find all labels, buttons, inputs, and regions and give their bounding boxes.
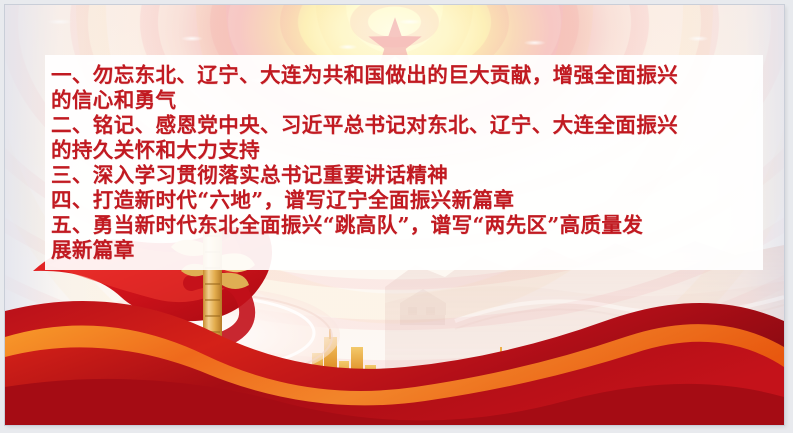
slide-frame: 一、勿忘东北、辽宁、大连为共和国做出的巨大贡献，增强全面振兴 的信心和勇气 二、… — [5, 5, 784, 425]
text-line: 三、深入学习贯彻落实总书记重要讲话精神 — [51, 163, 757, 188]
text-line: 四、打造新时代“六地”，谱写辽宁全面振兴新篇章 — [51, 188, 757, 213]
text-line: 的持久关怀和大力支持 — [51, 138, 757, 163]
text-line: 的信心和勇气 — [51, 88, 757, 113]
text-line-list: 一、勿忘东北、辽宁、大连为共和国做出的巨大贡献，增强全面振兴 的信心和勇气 二、… — [45, 55, 763, 263]
text-line: 展新篇章 — [51, 238, 757, 263]
slide-root: 一、勿忘东北、辽宁、大连为共和国做出的巨大贡献，增强全面振兴 的信心和勇气 二、… — [0, 0, 793, 433]
text-line: 五、勇当新时代东北全面振兴“跳高队”，谱写“两先区”高质量发 — [51, 213, 757, 238]
text-line: 一、勿忘东北、辽宁、大连为共和国做出的巨大贡献，增强全面振兴 — [51, 63, 757, 88]
text-line: 二、铭记、感恩党中央、习近平总书记对东北、辽宁、大连全面振兴 — [51, 113, 757, 138]
content-text-panel: 一、勿忘东北、辽宁、大连为共和国做出的巨大贡献，增强全面振兴 的信心和勇气 二、… — [45, 55, 763, 270]
